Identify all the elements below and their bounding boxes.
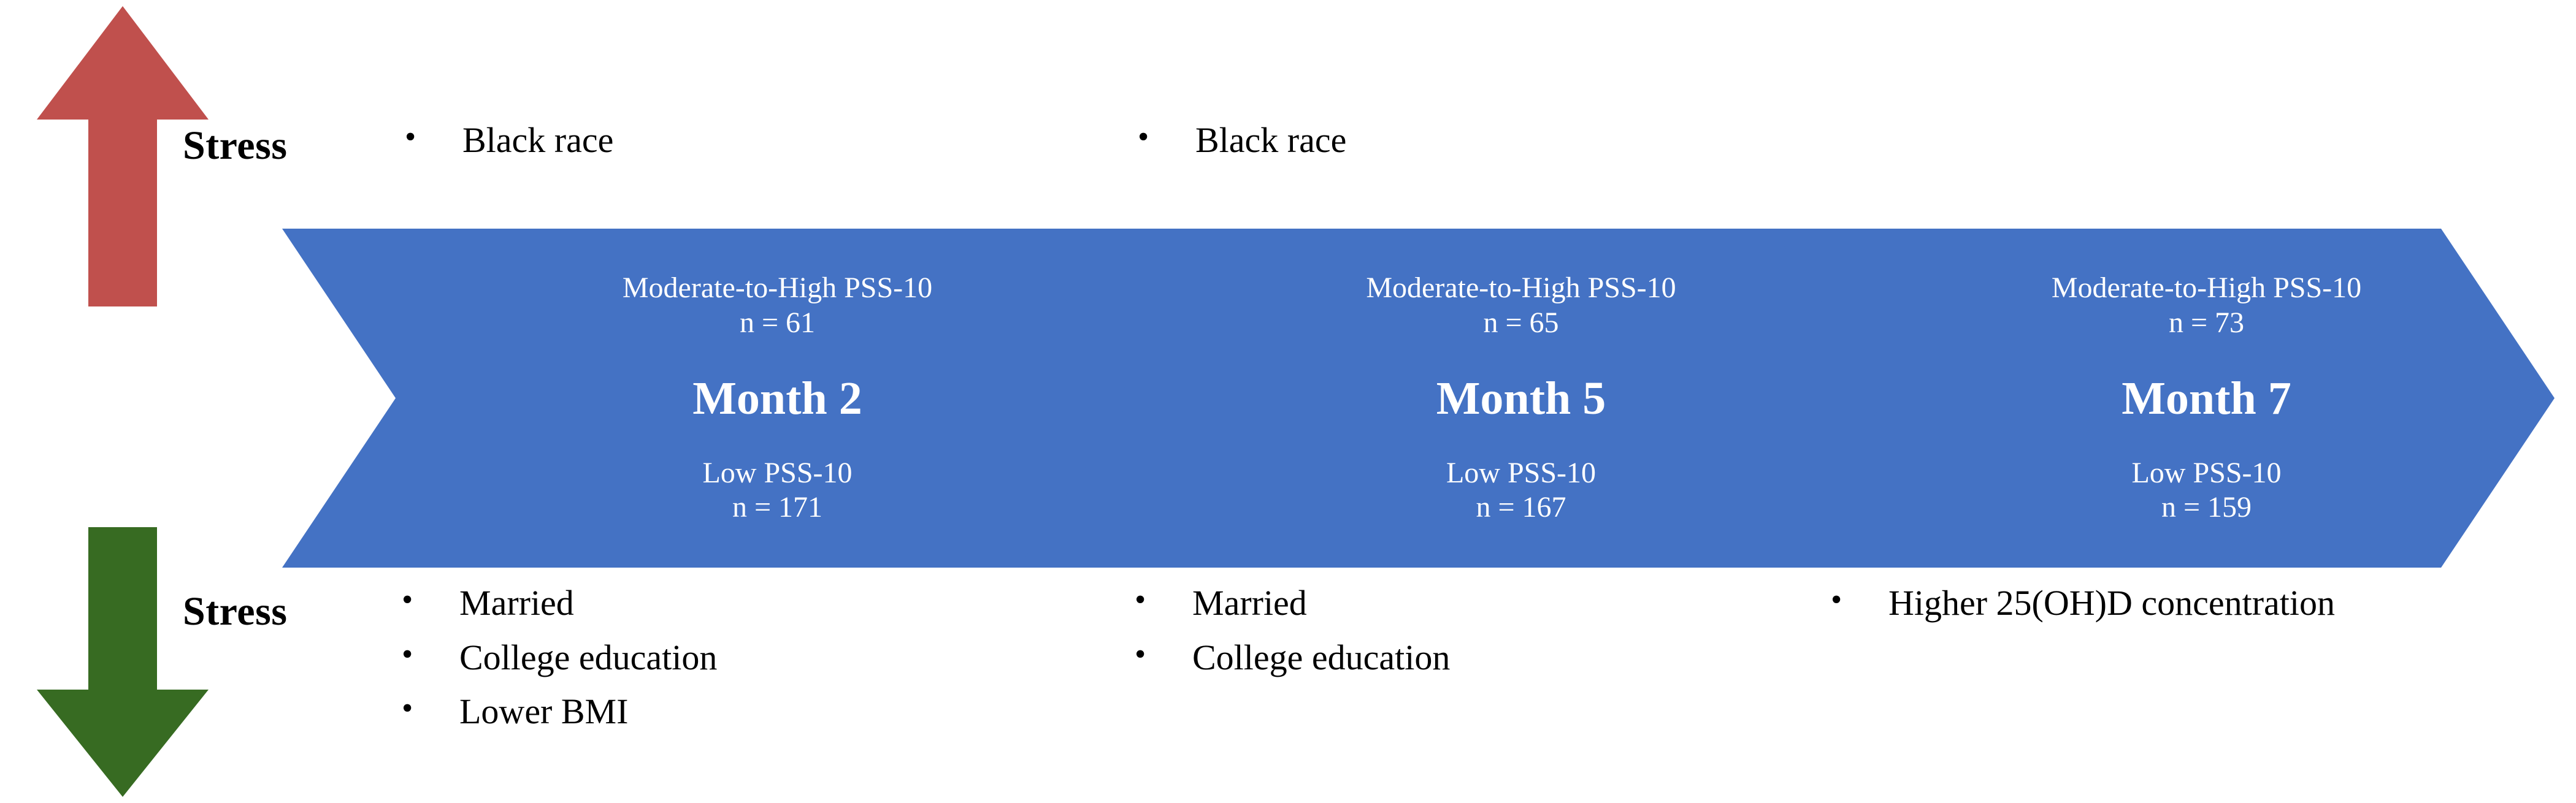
diagram-canvas: Stress Stress Moderate-to-High PSS-10 n … [0, 0, 2576, 803]
list-item-label: Black race [1195, 118, 1346, 163]
low-stress-n: n = 159 [2131, 490, 2281, 525]
list-item: • College education [1135, 636, 1450, 680]
timeline-step-content: Moderate-to-High PSS-10 n = 65 Month 5 L… [1147, 229, 1895, 568]
bullet-dot-icon: • [1138, 118, 1166, 156]
list-item-label: College education [459, 636, 717, 680]
low-stress-n: n = 171 [702, 490, 852, 525]
arrow-down-icon [37, 527, 209, 797]
stress-up-label: Stress [183, 126, 287, 166]
list-item-label: Black race [462, 118, 613, 163]
low-stress-label: Low PSS-10 [1446, 456, 1596, 491]
low-stress-group: Low PSS-10 n = 159 [2131, 456, 2281, 525]
low-stress-group: Low PSS-10 n = 167 [1446, 456, 1596, 525]
increase-factors-month-2: • Black race [405, 118, 613, 173]
list-item: • Black race [1138, 118, 1346, 163]
high-stress-group: Moderate-to-High PSS-10 n = 65 [1366, 271, 1676, 340]
low-stress-label: Low PSS-10 [702, 456, 852, 491]
high-stress-group: Moderate-to-High PSS-10 n = 61 [623, 271, 932, 340]
list-item: • Lower BMI [402, 690, 717, 734]
list-item-label: Lower BMI [459, 690, 628, 734]
increase-factors-month-5: • Black race [1138, 118, 1346, 173]
bullet-dot-icon: • [402, 636, 430, 674]
list-item: • Black race [405, 118, 613, 163]
list-item-label: Married [459, 581, 574, 626]
high-stress-n: n = 65 [1366, 306, 1676, 341]
low-stress-group: Low PSS-10 n = 171 [702, 456, 852, 525]
high-stress-label: Moderate-to-High PSS-10 [2052, 271, 2361, 306]
list-item: • Married [1135, 581, 1450, 626]
high-stress-label: Moderate-to-High PSS-10 [623, 271, 932, 306]
high-stress-group: Moderate-to-High PSS-10 n = 73 [2052, 271, 2361, 340]
timeline-step-month-2[interactable]: Moderate-to-High PSS-10 n = 61 Month 2 L… [282, 229, 1181, 568]
timeline-step-month-5[interactable]: Moderate-to-High PSS-10 n = 65 Month 5 L… [1018, 229, 1932, 568]
timeline-step-month-7[interactable]: Moderate-to-High PSS-10 n = 73 Month 7 L… [1773, 229, 2555, 568]
low-stress-label: Low PSS-10 [2131, 456, 2281, 491]
list-item-label: Higher 25(OH)D concentration [1888, 581, 2335, 626]
high-stress-n: n = 61 [623, 306, 932, 341]
timeline-step-title: Month 2 [692, 375, 862, 422]
arrow-down-shape [37, 527, 209, 797]
low-stress-n: n = 167 [1446, 490, 1596, 525]
high-stress-n: n = 73 [2052, 306, 2361, 341]
stress-down-label: Stress [183, 592, 287, 632]
list-item: • Higher 25(OH)D concentration [1831, 581, 2383, 626]
timeline-step-content: Moderate-to-High PSS-10 n = 61 Month 2 L… [405, 229, 1150, 568]
list-item-label: College education [1192, 636, 1450, 680]
bullet-dot-icon: • [1135, 581, 1163, 619]
high-stress-label: Moderate-to-High PSS-10 [1366, 271, 1676, 306]
bullet-dot-icon: • [405, 118, 433, 156]
decrease-factors-month-7: • Higher 25(OH)D concentration [1831, 581, 2383, 636]
bullet-dot-icon: • [1135, 636, 1163, 674]
timeline-step-title: Month 7 [2122, 375, 2291, 422]
bullet-dot-icon: • [1831, 581, 1859, 619]
timeline-chevrons: Moderate-to-High PSS-10 n = 61 Month 2 L… [0, 229, 2576, 568]
list-item: • College education [402, 636, 717, 680]
decrease-factors-month-2: • Married • College education • Lower BM… [402, 581, 717, 744]
timeline-step-content: Moderate-to-High PSS-10 n = 73 Month 7 L… [1895, 229, 2518, 568]
timeline-step-title: Month 5 [1436, 375, 1606, 422]
bullet-dot-icon: • [402, 581, 430, 619]
decrease-factors-month-5: • Married • College education [1135, 581, 1450, 690]
list-item: • Married [402, 581, 717, 626]
list-item-label: Married [1192, 581, 1307, 626]
bullet-dot-icon: • [402, 690, 430, 728]
